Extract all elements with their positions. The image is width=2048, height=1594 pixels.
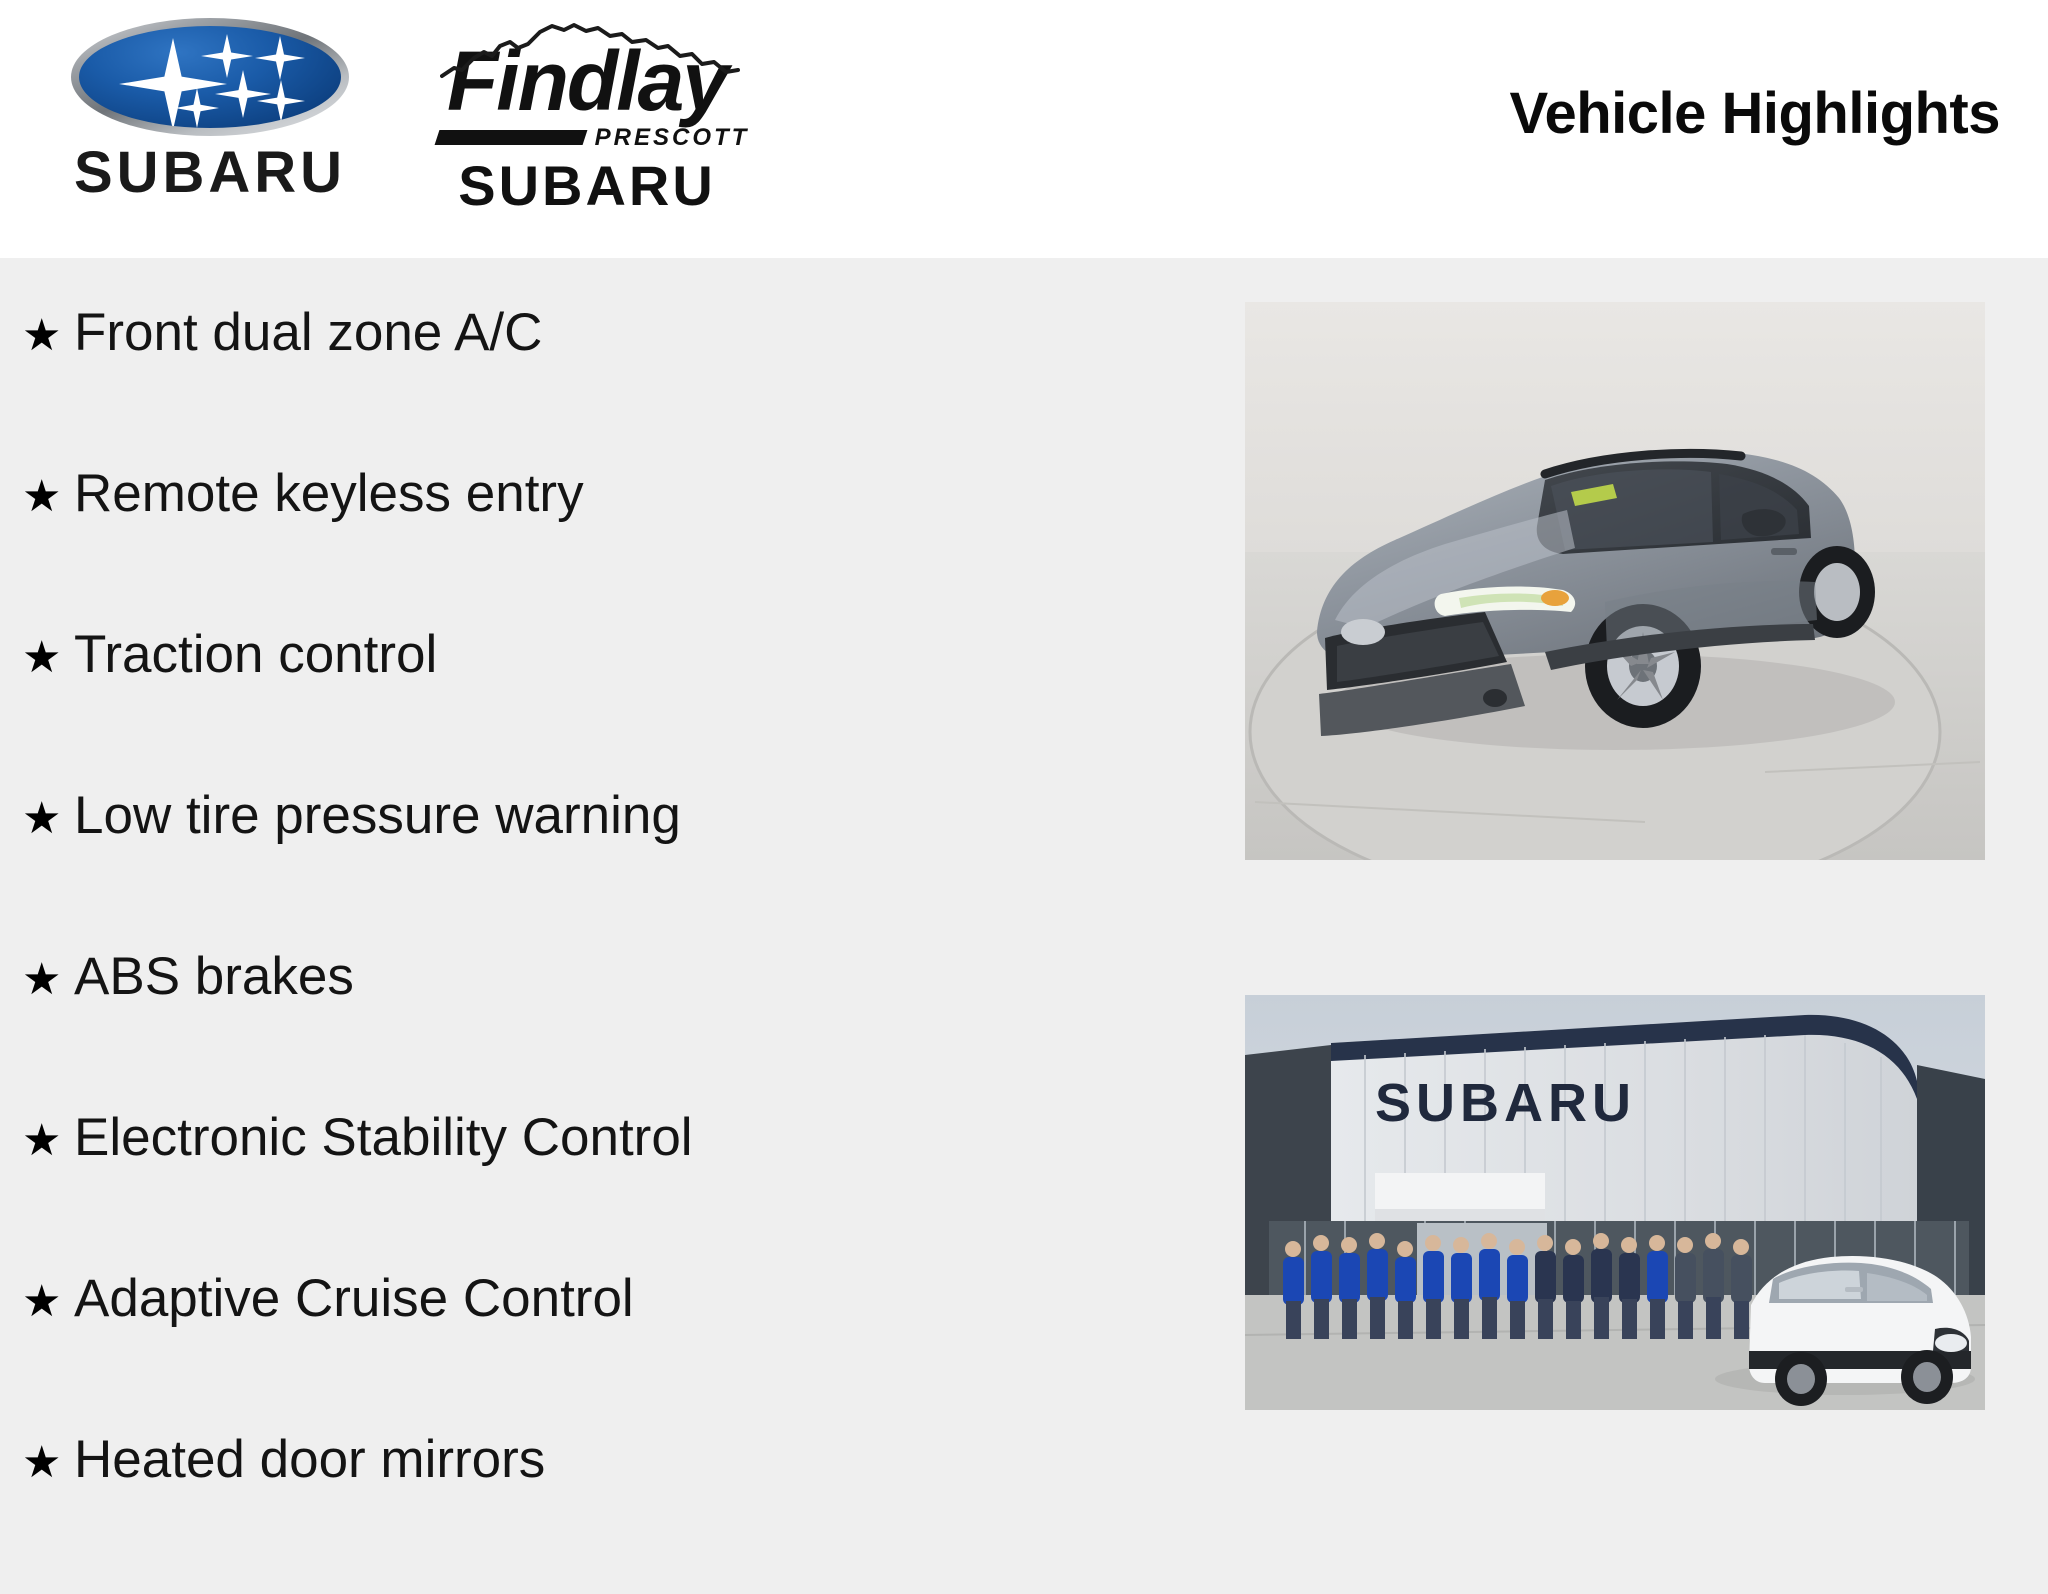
list-item: ★ Remote keyless entry	[22, 467, 1192, 628]
star-bullet-icon: ★	[22, 314, 74, 358]
highlight-label: Traction control	[74, 628, 437, 681]
dealership-photo[interactable]: SUBARU	[1245, 995, 1985, 1410]
star-bullet-icon: ★	[22, 797, 74, 841]
highlight-label: Remote keyless entry	[74, 467, 584, 520]
subaru-corporate-logo: SUBARU	[60, 18, 360, 202]
list-item: ★ Adaptive Cruise Control	[22, 1272, 1192, 1433]
list-item: ★ ABS brakes	[22, 950, 1192, 1111]
page-header: SUBARU Findlay PRESCOTT SUBARU Vehicle H…	[0, 0, 2048, 258]
star-bullet-icon: ★	[22, 1280, 74, 1324]
highlight-label: Heated door mirrors	[74, 1433, 545, 1486]
highlight-label: Adaptive Cruise Control	[74, 1272, 634, 1325]
svg-text:SUBARU: SUBARU	[1375, 1073, 1636, 1133]
subaru-star-cluster-icon	[71, 18, 349, 136]
vehicle-photo[interactable]	[1245, 302, 1985, 860]
prescott-label: PRESCOTT	[595, 124, 750, 152]
list-item: ★ Traction control	[22, 628, 1192, 789]
brand-logo-group: SUBARU Findlay PRESCOTT SUBARU	[60, 18, 752, 214]
vehicle-highlights-list: ★ Front dual zone A/C ★ Remote keyless e…	[22, 306, 1192, 1594]
highlight-label: Low tire pressure warning	[74, 789, 681, 842]
list-item: ★ Electronic Stability Control	[22, 1111, 1192, 1272]
list-item: ★ Front dual zone A/C	[22, 306, 1192, 467]
list-item: ★ Heated door mirrors	[22, 1433, 1192, 1594]
prescott-locator: PRESCOTT	[437, 124, 750, 152]
prescott-accent-bar	[434, 130, 587, 145]
vehicle-highlights-page: SUBARU Findlay PRESCOTT SUBARU Vehicle H…	[0, 0, 2048, 1536]
subaru-wordmark: SUBARU	[74, 144, 346, 202]
star-bullet-icon: ★	[22, 1441, 74, 1485]
list-item: ★ Low tire pressure warning	[22, 789, 1192, 950]
highlight-label: ABS brakes	[74, 950, 354, 1003]
page-title: Vehicle Highlights	[1509, 80, 2000, 147]
star-bullet-icon: ★	[22, 475, 74, 519]
highlight-label: Electronic Stability Control	[74, 1111, 693, 1164]
findlay-subaru-wordmark: SUBARU	[458, 158, 716, 214]
findlay-subaru-logo: Findlay PRESCOTT SUBARU	[422, 18, 752, 214]
star-bullet-icon: ★	[22, 1119, 74, 1163]
findlay-script-wordmark: Findlay	[447, 42, 727, 122]
star-bullet-icon: ★	[22, 636, 74, 680]
star-bullet-icon: ★	[22, 958, 74, 1002]
page-content: ★ Front dual zone A/C ★ Remote keyless e…	[0, 258, 2048, 1536]
highlight-label: Front dual zone A/C	[74, 306, 542, 359]
